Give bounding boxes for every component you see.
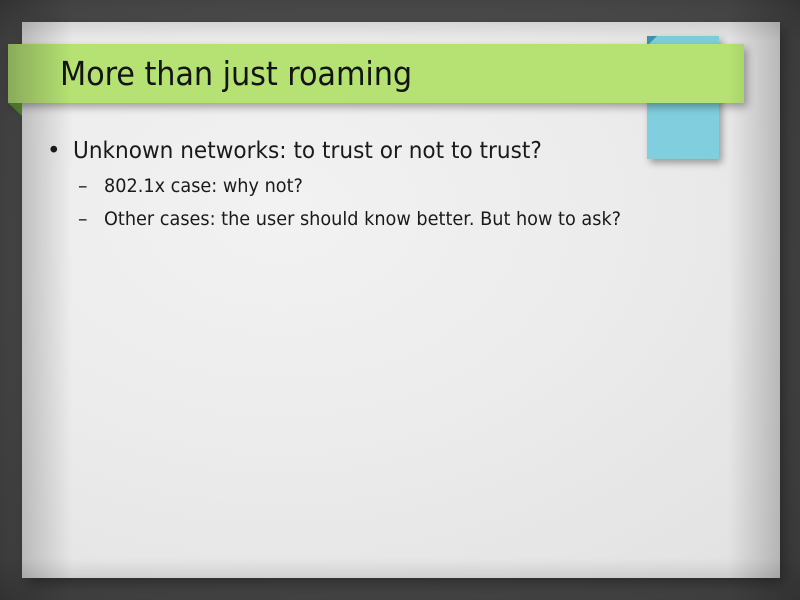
bullet-marker-icon: • xyxy=(47,140,73,163)
bullet-item-1: • Unknown networks: to trust or not to t… xyxy=(47,138,780,165)
slide-body: • Unknown networks: to trust or not to t… xyxy=(22,138,780,240)
dash-marker-icon: – xyxy=(78,210,104,229)
slide-viewer: More than just roaming • Unknown network… xyxy=(0,0,800,600)
bullet-text: Unknown networks: to trust or not to tru… xyxy=(73,138,542,165)
dash-marker-icon: – xyxy=(78,177,104,196)
slide-title: More than just roaming xyxy=(60,54,412,93)
bullet-item-2: – 802.1x case: why not? xyxy=(78,175,780,197)
bullet-item-3: – Other cases: the user should know bett… xyxy=(78,208,780,230)
slide-canvas: More than just roaming • Unknown network… xyxy=(22,22,780,578)
title-banner: More than just roaming xyxy=(8,44,744,103)
green-banner-fold-corner xyxy=(8,103,22,116)
bullet-text: 802.1x case: why not? xyxy=(104,175,303,197)
bullet-text: Other cases: the user should know better… xyxy=(104,208,621,230)
